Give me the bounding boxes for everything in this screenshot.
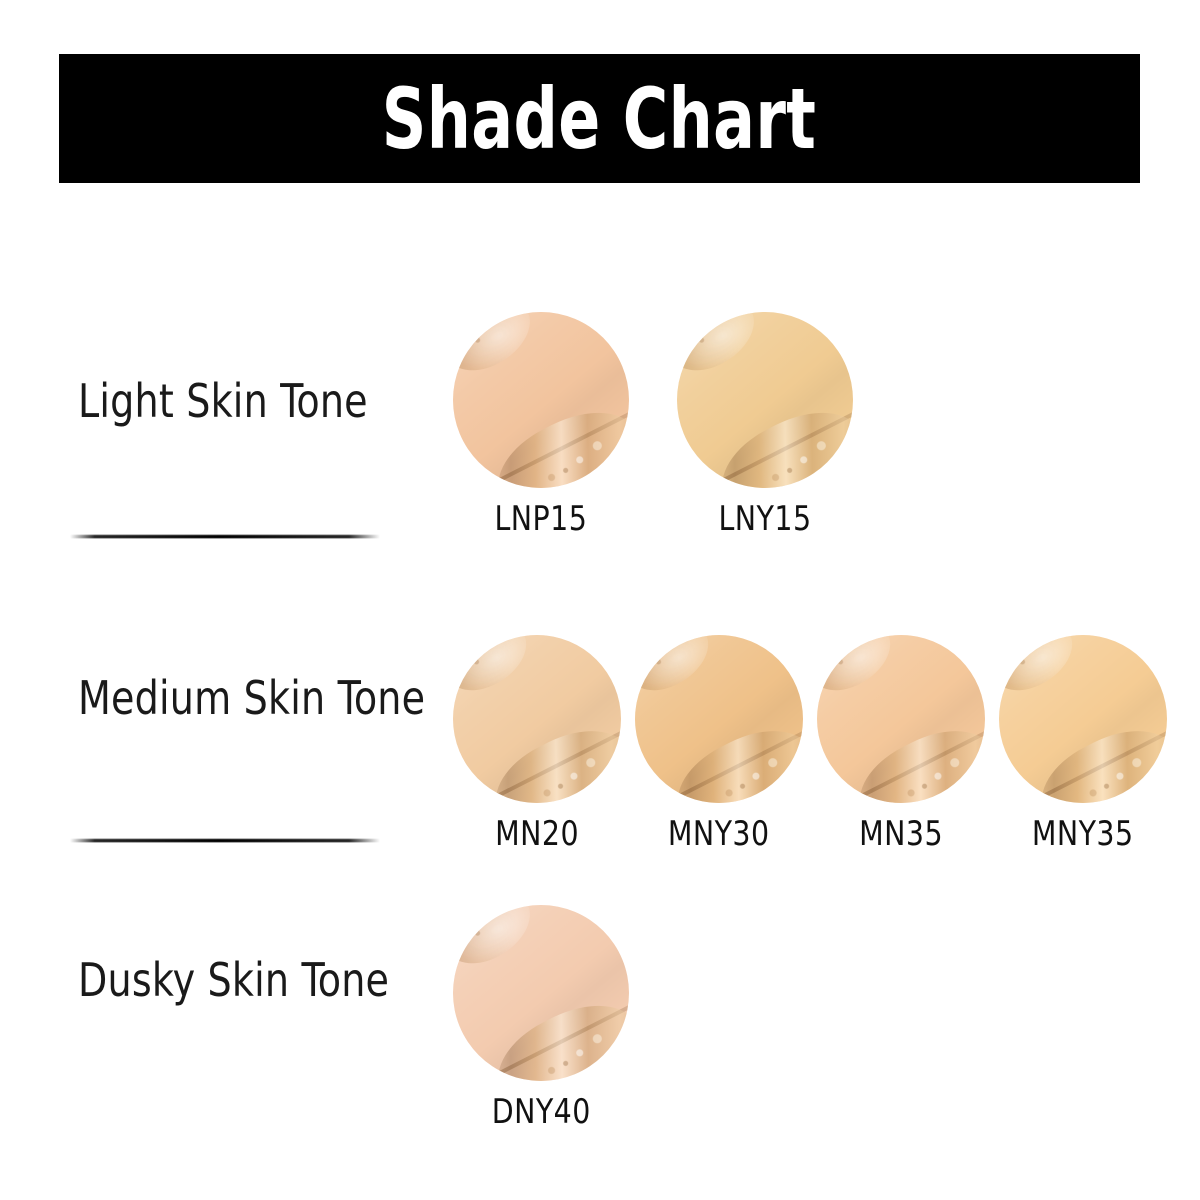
swatch-code-label: MNY35 — [1032, 817, 1134, 851]
swatch-disc-dny40[interactable] — [453, 905, 629, 1081]
divider-line — [70, 534, 380, 539]
powder-diagonal-edge — [999, 718, 1167, 803]
tone-section-light: Light Skin Tone LNP15 LNY15 — [0, 300, 1200, 540]
tone-label-light: Light Skin Tone — [78, 378, 368, 424]
tone-label-dusky: Dusky Skin Tone — [78, 957, 389, 1003]
swatch-item[interactable]: LNP15 — [453, 312, 629, 536]
powder-crumble-top — [453, 905, 543, 976]
powder-diagonal-edge — [817, 718, 985, 803]
powder-diagonal-edge — [453, 992, 629, 1081]
swatch-item[interactable]: MNY30 — [635, 635, 803, 851]
powder-crumble-bottom — [483, 985, 629, 1081]
swatch-disc-mny30[interactable] — [635, 635, 803, 803]
powder-specks — [453, 905, 629, 1081]
powder-diagonal-edge — [635, 718, 803, 803]
swatch-item[interactable]: MN35 — [817, 635, 985, 851]
powder-specks — [817, 635, 985, 803]
swatch-disc-mn20[interactable] — [453, 635, 621, 803]
swatch-code-label: MNY30 — [668, 817, 770, 851]
swatch-code-label: LNP15 — [495, 502, 588, 536]
section-divider-1 — [70, 534, 380, 539]
powder-diagonal-edge — [677, 399, 853, 488]
powder-diagonal-edge — [453, 718, 621, 803]
powder-crumble-bottom — [1027, 711, 1167, 803]
shade-chart-page: { "header": { "title": "Shade Chart", "b… — [0, 0, 1200, 1200]
swatch-item[interactable]: MN20 — [453, 635, 621, 851]
tone-label-medium: Medium Skin Tone — [78, 675, 425, 721]
swatch-item[interactable]: DNY40 — [453, 905, 629, 1129]
swatch-group-light: LNP15 LNY15 — [453, 312, 853, 536]
powder-sheen — [677, 312, 853, 488]
powder-crumble-bottom — [663, 711, 803, 803]
swatch-disc-mn35[interactable] — [817, 635, 985, 803]
divider-line — [70, 838, 380, 843]
powder-crumble-top — [453, 635, 539, 703]
powder-crumble-top — [817, 635, 903, 703]
swatch-item[interactable]: MNY35 — [999, 635, 1167, 851]
powder-crumble-top — [453, 312, 543, 383]
swatch-code-label: MN35 — [859, 817, 943, 851]
swatch-code-label: DNY40 — [491, 1095, 590, 1129]
powder-crumble-top — [999, 635, 1085, 703]
powder-crumble-top — [677, 312, 767, 383]
powder-sheen — [999, 635, 1167, 803]
tone-section-medium: Medium Skin Tone MN20 MNY30 — [0, 625, 1200, 855]
swatch-group-medium: MN20 MNY30 MN35 — [453, 635, 1167, 851]
swatch-item[interactable]: LNY15 — [677, 312, 853, 536]
powder-sheen — [453, 905, 629, 1081]
powder-crumble-bottom — [707, 392, 853, 488]
powder-sheen — [453, 635, 621, 803]
powder-diagonal-edge — [453, 399, 629, 488]
powder-specks — [677, 312, 853, 488]
powder-sheen — [817, 635, 985, 803]
page-title: Shade Chart — [382, 77, 817, 161]
powder-crumble-bottom — [845, 711, 985, 803]
swatch-code-label: LNY15 — [718, 502, 811, 536]
powder-specks — [453, 312, 629, 488]
powder-specks — [453, 635, 621, 803]
powder-specks — [635, 635, 803, 803]
title-banner: Shade Chart — [59, 54, 1140, 183]
swatch-code-label: MN20 — [495, 817, 579, 851]
powder-crumble-bottom — [481, 711, 621, 803]
powder-specks — [999, 635, 1167, 803]
section-divider-2 — [70, 838, 380, 843]
powder-crumble-top — [635, 635, 721, 703]
powder-sheen — [453, 312, 629, 488]
swatch-disc-lnp15[interactable] — [453, 312, 629, 488]
powder-sheen — [635, 635, 803, 803]
tone-section-dusky: Dusky Skin Tone DNY40 — [0, 895, 1200, 1130]
swatch-group-dusky: DNY40 — [453, 905, 629, 1129]
swatch-disc-mny35[interactable] — [999, 635, 1167, 803]
powder-crumble-bottom — [483, 392, 629, 488]
swatch-disc-lny15[interactable] — [677, 312, 853, 488]
